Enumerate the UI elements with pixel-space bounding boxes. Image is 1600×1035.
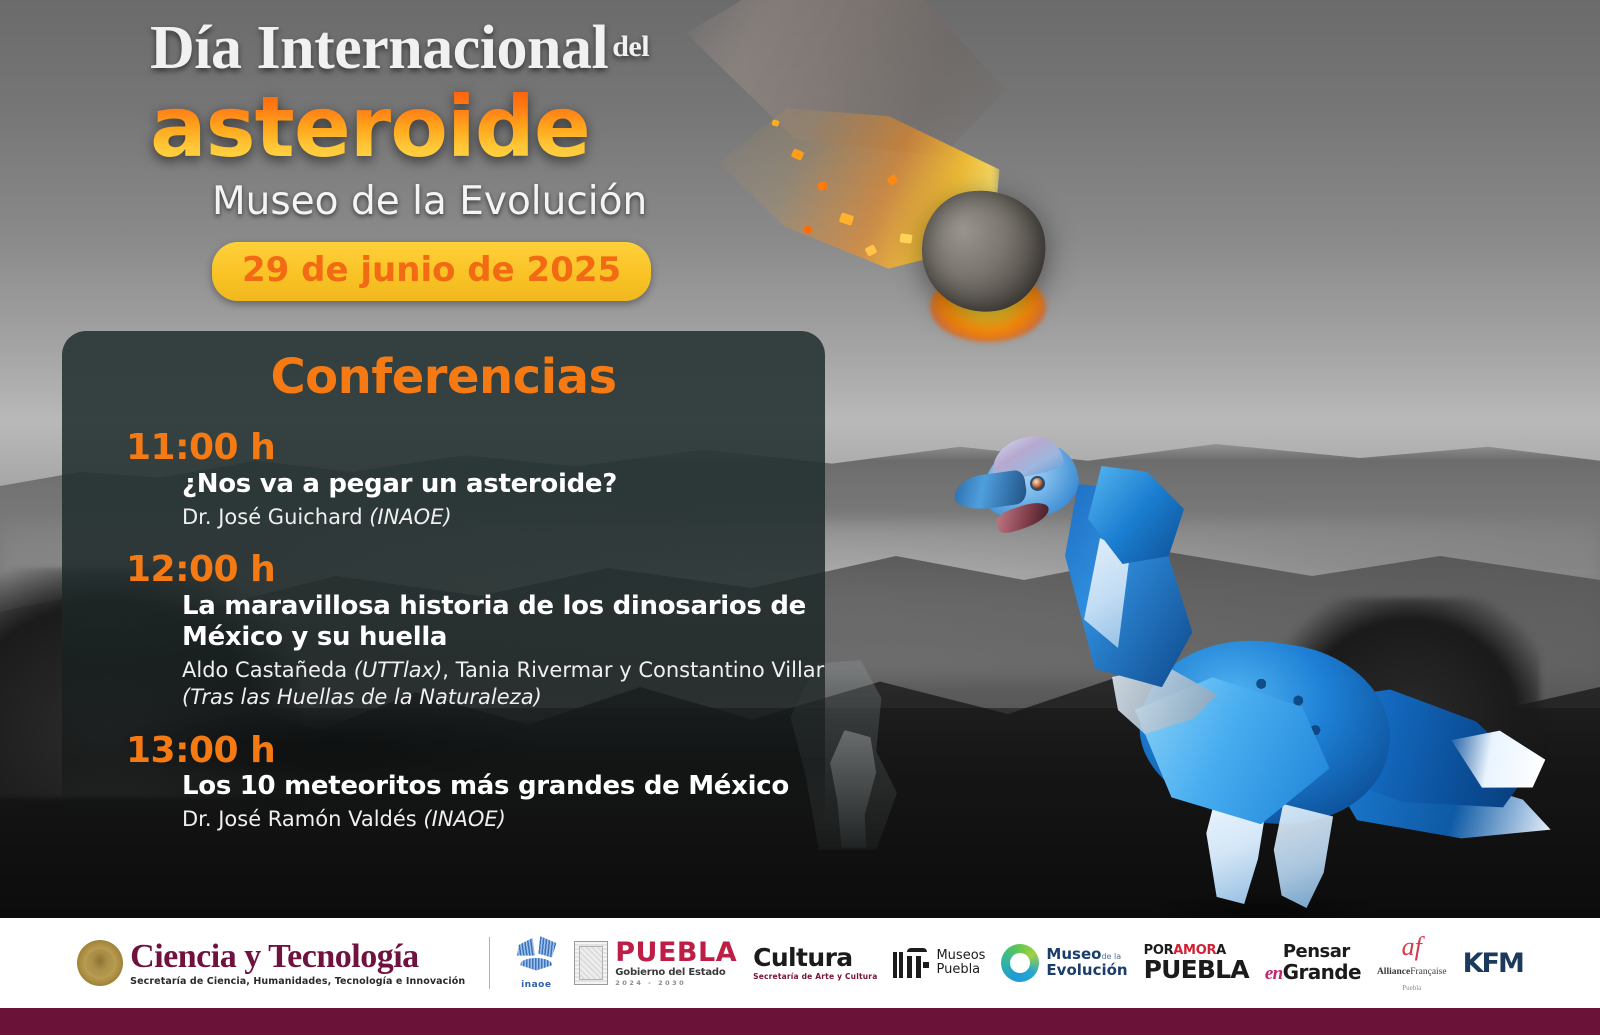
museos-puebla-text: Museos Puebla	[936, 949, 985, 977]
title-line-1: Día Internacional	[150, 14, 608, 82]
talk-speakers: Dr. José Guichard (INAOE)	[182, 504, 825, 531]
por-amor-text: PORAMORA PUEBLA	[1144, 944, 1249, 982]
museos-puebla-mark-icon	[893, 948, 929, 978]
logo-museos-puebla: Museos Puebla	[893, 948, 985, 978]
talk-speaker-names: Aldo Castañeda	[182, 658, 354, 682]
talk-speaker-affiliation: (UTTlax)	[354, 658, 443, 682]
museos-line-1: Museos	[936, 949, 985, 963]
talks-list: 11:00 h ¿Nos va a pegar un asteroide? Dr…	[62, 429, 825, 833]
museo-evolucion-line-2: Evolución	[1046, 963, 1127, 979]
bottom-accent-bar	[0, 1008, 1600, 1035]
museo-evolucion-circle-icon	[1001, 944, 1039, 982]
conferences-panel: Conferencias 11:00 h ¿Nos va a pegar un …	[62, 331, 825, 831]
venue-subtitle: Museo de la Evolución	[212, 179, 850, 224]
museo-evolucion-text: Museode la Evolución	[1046, 947, 1127, 979]
puebla-sub-label: Gobierno del Estado	[615, 968, 737, 978]
page-title: Día Internacionaldel	[150, 16, 850, 81]
list-item: 12:00 h La maravillosa historia de los d…	[62, 551, 825, 712]
conferences-heading: Conferencias	[62, 331, 825, 405]
talk-speaker-affiliation: (INAOE)	[369, 505, 451, 529]
mexican-coat-of-arms-icon	[77, 940, 123, 986]
logo-museo-evolucion: Museode la Evolución	[1001, 944, 1127, 982]
logo-alliance-francaise: af AllianceFrançaise Puebla	[1377, 934, 1447, 993]
logo-ciencia-y-tecnologia: Ciencia y Tecnología Secretaría de Cienc…	[77, 940, 465, 987]
puebla-text: PUEBLA Gobierno del Estado 2024 - 2030	[615, 939, 737, 987]
logo-pensar-en-grande: Pensar enGrande	[1265, 943, 1361, 983]
logo-puebla-gobierno: PUEBLA Gobierno del Estado 2024 - 2030	[574, 939, 737, 987]
dinosaur-eye-icon	[1030, 476, 1045, 491]
title-del: del	[612, 30, 649, 63]
talk-group: (Tras las Huellas de la Naturaleza)	[182, 684, 825, 711]
francaise-word: Française	[1410, 967, 1446, 977]
inaoe-mark-icon	[514, 937, 558, 971]
en-word: en	[1265, 963, 1283, 984]
alliance-line-2: Puebla	[1402, 985, 1421, 992]
meteor-ember	[864, 244, 877, 257]
meteor-heat-glow	[930, 272, 1046, 342]
logo-por-amor-a-puebla: PORAMORA PUEBLA	[1144, 944, 1249, 982]
pensar-text: Pensar enGrande	[1265, 943, 1361, 983]
ciencia-main-label: Ciencia y Tecnología	[130, 940, 465, 974]
event-date-badge: 29 de junio de 2025	[212, 242, 651, 301]
talk-speaker-names: Dr. José Ramón Valdés	[182, 807, 423, 831]
logo-inaoe: inaoe	[514, 937, 558, 990]
poster-root: Día Internacionaldel asteroide Museo de …	[0, 0, 1600, 1035]
foreground-bush-right	[1280, 598, 1540, 768]
ciencia-text: Ciencia y Tecnología Secretaría de Cienc…	[130, 940, 465, 987]
pensar-line-1: Pensar	[1283, 943, 1361, 961]
de-la-word: de la	[1101, 952, 1121, 961]
title-highlight: asteroide	[150, 85, 850, 169]
dinosaur-snout	[952, 469, 1028, 513]
talk-title: ¿Nos va a pegar un asteroide?	[182, 469, 822, 501]
pensar-line-2: enGrande	[1265, 962, 1361, 983]
poster-title-block: Día Internacionaldel asteroide Museo de …	[150, 16, 850, 301]
puebla-years-label: 2024 - 2030	[615, 980, 737, 987]
puebla-shield-icon	[574, 941, 608, 985]
talk-time: 13:00 h	[126, 732, 825, 770]
logo-kfm: KFM	[1463, 948, 1523, 979]
puebla-main-label: PUEBLA	[615, 939, 737, 966]
dinosaur-crest	[987, 431, 1065, 483]
alliance-word: Alliance	[1377, 967, 1410, 977]
ciencia-sub-label: Secretaría de Ciencia, Humanidades, Tecn…	[130, 977, 465, 987]
talk-time: 11:00 h	[126, 429, 825, 467]
list-item: 13:00 h Los 10 meteoritos más grandes de…	[62, 732, 825, 834]
museos-line-2: Puebla	[936, 963, 985, 977]
footer-divider	[489, 937, 490, 989]
sponsor-footer: Ciencia y Tecnología Secretaría de Cienc…	[0, 918, 1600, 1008]
cultura-text: Cultura Secretaría de Arte y Cultura	[753, 945, 877, 981]
inaoe-label: inaoe	[521, 980, 551, 990]
alliance-line-1: AllianceFrançaise	[1377, 968, 1447, 978]
kfm-label: KFM	[1463, 948, 1523, 979]
list-item: 11:00 h ¿Nos va a pegar un asteroide? Dr…	[62, 429, 825, 531]
talk-time: 12:00 h	[126, 551, 825, 589]
meteor-rock-icon	[914, 182, 1054, 320]
alliance-af-monogram-icon: af	[1402, 934, 1422, 960]
talk-speakers: Dr. José Ramón Valdés (INAOE)	[182, 806, 825, 833]
por-amor-line-2: PUEBLA	[1144, 957, 1249, 982]
meteor-ember	[887, 174, 899, 186]
meteor-ember	[899, 233, 912, 244]
talk-speaker-names-2: , Tania Rivermar y Constantino Villar	[442, 658, 824, 682]
talk-title: Los 10 meteoritos más grandes de México	[182, 771, 822, 803]
grande-word: Grande	[1283, 960, 1361, 984]
talk-speakers: Aldo Castañeda (UTTlax), Tania Rivermar …	[182, 657, 825, 684]
logo-cultura: Cultura Secretaría de Arte y Cultura	[753, 945, 877, 981]
cultura-main-label: Cultura	[753, 945, 877, 970]
talk-title: La maravillosa historia de los dinosario…	[182, 591, 822, 654]
talk-speaker-affiliation: (INAOE)	[423, 807, 505, 831]
talk-speaker-names: Dr. José Guichard	[182, 505, 369, 529]
dinosaur-head	[974, 433, 1085, 528]
cultura-sub-label: Secretaría de Arte y Cultura	[753, 973, 877, 981]
